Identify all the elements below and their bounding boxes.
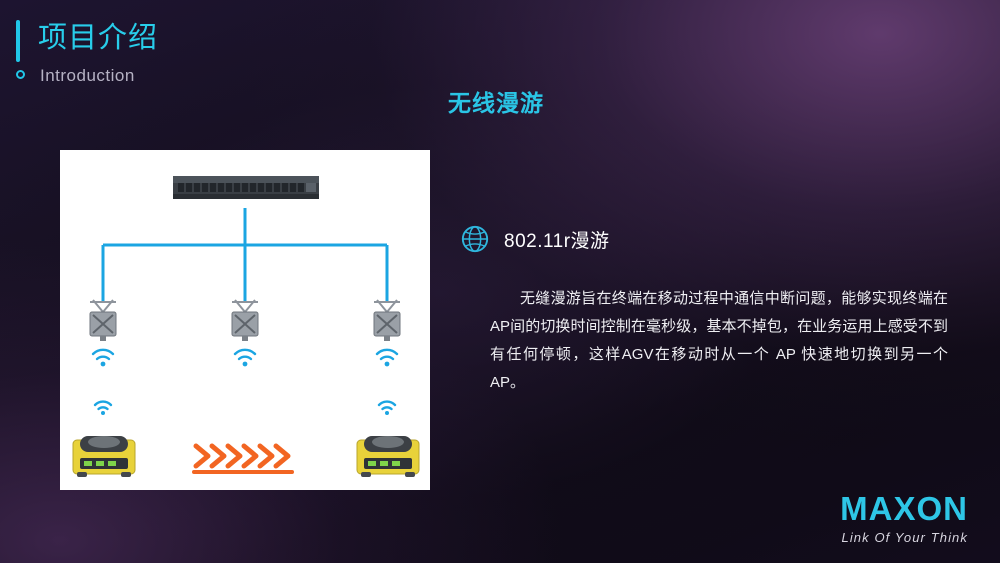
wifi-signal-icons [93,350,397,367]
brand-logo: MAXON Link Of Your Think [840,492,968,545]
ap-right [374,300,400,341]
slide-root: 项目介绍 Introduction 无线漫游 [0,0,1000,563]
agv-left [73,436,135,477]
globe-icon [460,224,490,254]
wifi-signal-icons-lower [95,402,395,415]
page-title: 项目介绍 [38,14,158,56]
bullet-label: 802.11r漫游 [504,226,610,253]
network-topology-diagram [60,150,430,490]
body-paragraph: 无缝漫游旨在终端在移动过程中通信中断问题，能够实现终端在 AP间的切换时间控制在… [490,285,948,397]
bullet-row: 802.11r漫游 [460,224,610,254]
header-accent-bar [16,20,20,62]
agv-right [357,436,419,477]
logo-tagline: Link Of Your Think [840,530,968,545]
section-title: 无线漫游 [448,84,544,118]
header-accent-dot [16,70,25,79]
ap-left [90,300,116,341]
link-lines [103,208,387,302]
ap-center [232,300,258,341]
motion-arrows-icon [194,446,292,472]
switch-icon [173,176,319,199]
page-subtitle: Introduction [40,66,135,86]
logo-name: MAXON [840,492,968,525]
diagram-panel [60,150,430,490]
slide-header: 项目介绍 Introduction [16,14,356,80]
